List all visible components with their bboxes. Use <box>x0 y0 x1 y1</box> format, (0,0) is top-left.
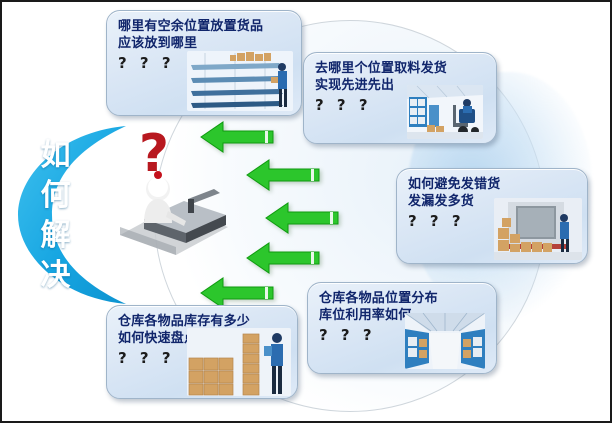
card-storage-location[interactable]: 哪里有空余位置放置货品 应该放到哪里 ? ? ? <box>106 10 302 116</box>
card-location-distribution[interactable]: 仓库各物品位置分布 库位利用率如何 ? ? ? <box>307 282 497 374</box>
loading-dock-illustration <box>494 198 582 260</box>
arrow-to-card-1 <box>199 120 275 154</box>
card-picking-fifo[interactable]: 去哪里个位置取料发货 实现先进先出 ? ? ? <box>303 52 497 144</box>
red-question-mark-icon: ? <box>139 127 169 184</box>
card2-line1: 去哪里个位置取料发货 <box>315 60 486 77</box>
svg-text:?: ? <box>139 127 169 184</box>
crescent-label: 如何解决 <box>32 136 80 296</box>
carton-grid <box>189 358 233 395</box>
card1-line2: 应该放到哪里 <box>118 35 291 52</box>
stacked-cartons-illustration <box>187 328 291 396</box>
warehouse-aisle-illustration <box>405 313 485 369</box>
warehouse-racking-illustration <box>187 51 293 111</box>
card-shipping-accuracy[interactable]: 如何避免发错货 发漏发多货 ? ? ? <box>396 168 588 264</box>
card4-line1: 仓库各物品位置分布 <box>319 290 486 307</box>
arrow-to-card-2 <box>245 158 321 192</box>
card3-line1: 如何避免发错货 <box>408 176 577 193</box>
arrow-to-card-4 <box>245 241 321 275</box>
arrow-to-card-3 <box>264 201 340 235</box>
carton-tower <box>243 334 259 395</box>
card-inventory-count[interactable]: 仓库各物品库存有多少 如何快速盘点 ? ? ? <box>106 305 298 399</box>
diagram-canvas: 如何解决 ? <box>0 0 612 423</box>
card1-line1: 哪里有空余位置放置货品 <box>118 18 291 35</box>
forklift-warehouse-illustration <box>407 85 483 139</box>
